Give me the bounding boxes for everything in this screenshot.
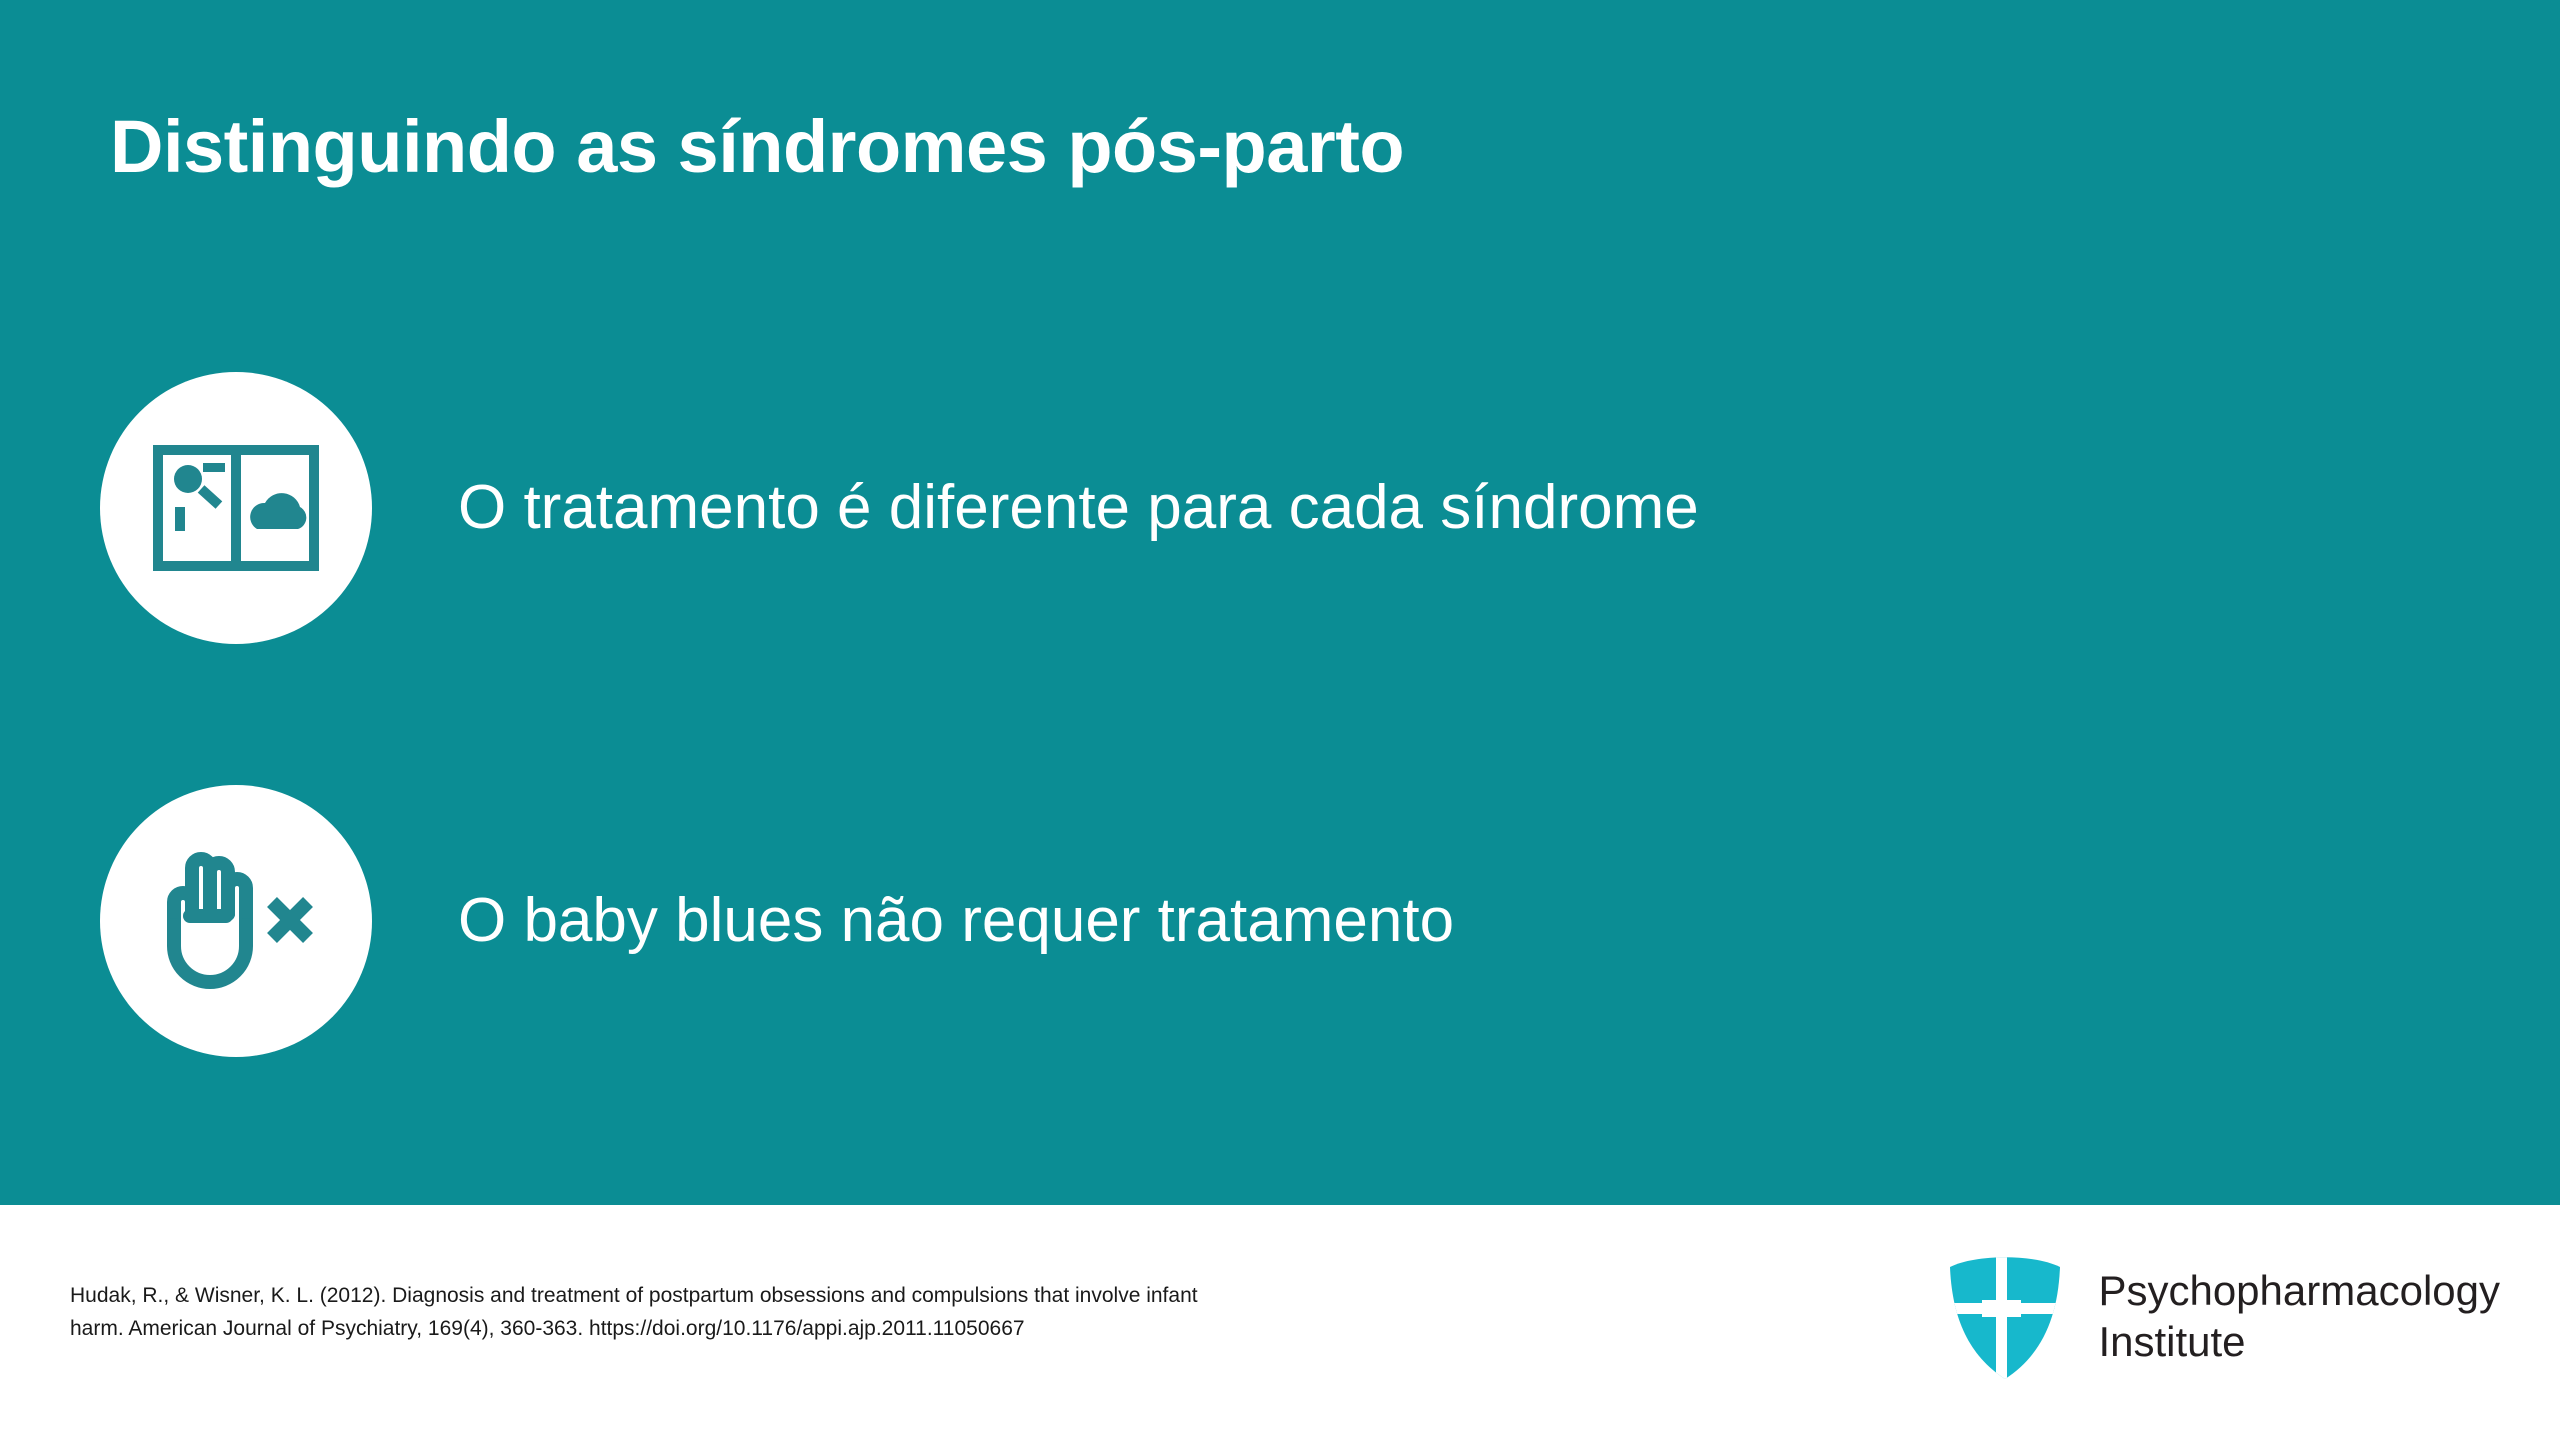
brand-name-line-2: Institute [2098,1316,2500,1367]
bullet-text-1: O tratamento é diferente para cada síndr… [458,472,1699,543]
slide-canvas: Distinguindo as síndromes pós-parto [0,0,2560,1440]
brand-name: Psychopharmacology Institute [2098,1265,2500,1367]
bullet-item-1: O tratamento é diferente para cada síndr… [100,372,1699,644]
bullet-text-2: O baby blues não requer tratamento [458,885,1454,956]
brand-name-line-1: Psychopharmacology [2098,1265,2500,1316]
citation-line-2: harm. American Journal of Psychiatry, 16… [70,1313,1470,1346]
citation-text: Hudak, R., & Wisner, K. L. (2012). Diagn… [70,1280,1470,1345]
hand-stop-x-icon [156,850,316,992]
brand-logo: Psychopharmacology Institute [1946,1251,2500,1381]
bullet-item-2: O baby blues não requer tratamento [100,785,1454,1057]
icon-badge-1 [100,372,372,644]
footer-bar: Hudak, R., & Wisner, K. L. (2012). Diagn… [0,1205,2560,1440]
page-title: Distinguindo as síndromes pós-parto [110,108,1404,186]
window-sun-cloud-icon [153,445,319,571]
shield-cross-logo [1946,1251,2064,1381]
citation-line-1: Hudak, R., & Wisner, K. L. (2012). Diagn… [70,1280,1470,1313]
icon-badge-2 [100,785,372,1057]
